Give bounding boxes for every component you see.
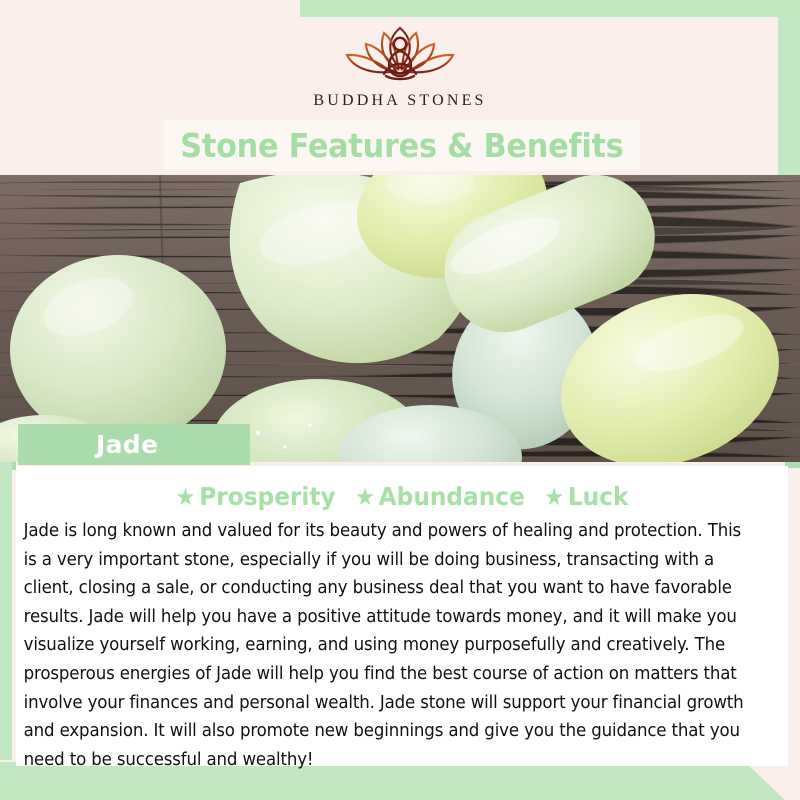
- page-title: Stone Features & Benefits: [180, 126, 623, 165]
- keyword-item-luck: ★Luck: [544, 482, 628, 511]
- lotus-meditation-icon: [325, 22, 475, 88]
- decorative-band-left-lower: [0, 460, 12, 760]
- stone-name: Jade: [18, 430, 158, 459]
- star-icon: ★: [176, 483, 196, 511]
- brand-logo: BUDDHA STONES: [0, 22, 800, 110]
- brand-name: BUDDHA STONES: [0, 92, 800, 110]
- star-icon: ★: [544, 483, 564, 511]
- keyword-label: Luck: [568, 482, 629, 511]
- content-card: ★Prosperity ★Abundance ★Luck Jade is lon…: [16, 466, 788, 766]
- keyword-item-prosperity: ★Prosperity: [176, 482, 336, 511]
- keyword-item-abundance: ★Abundance: [355, 482, 525, 511]
- stone-description: Jade is long known and valued for its be…: [16, 517, 753, 774]
- keyword-label: Prosperity: [199, 482, 335, 511]
- star-icon: ★: [355, 483, 375, 511]
- poster-root: BUDDHA STONES Stone Features & Benefits: [0, 0, 800, 800]
- stone-name-banner: Jade: [18, 424, 250, 465]
- stone-photo: [0, 175, 800, 462]
- keyword-label: Abundance: [379, 482, 525, 511]
- keyword-list: ★Prosperity ★Abundance ★Luck: [43, 482, 761, 511]
- title-banner: Stone Features & Benefits: [164, 120, 640, 171]
- stone-photo-graphic: [0, 175, 800, 462]
